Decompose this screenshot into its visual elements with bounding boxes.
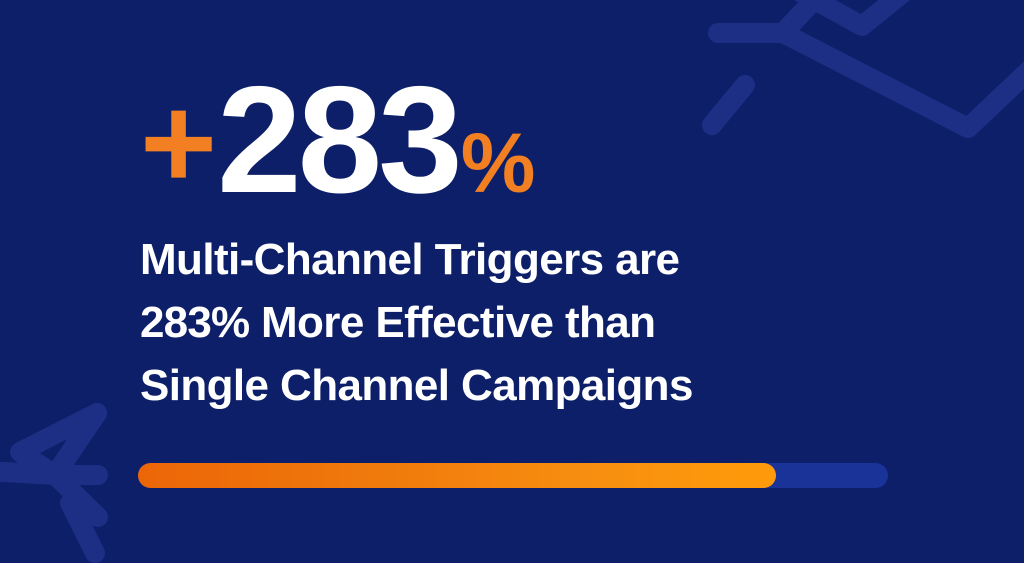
headline-value: 283 <box>217 64 459 216</box>
subhead-line-2: 283% More Effective than <box>140 291 880 354</box>
headline-stat: + 283 % <box>140 64 533 216</box>
progress-bar-fill <box>138 463 776 488</box>
stat-highlight-card: + 283 % Multi-Channel Triggers are 283% … <box>0 0 1024 563</box>
network-nodes-top-right-graphic <box>712 0 1024 128</box>
progress-bar <box>138 463 888 488</box>
subhead-line-1: Multi-Channel Triggers are <box>140 228 880 291</box>
subhead-line-2-rest: More Effective than <box>249 298 655 347</box>
headline-percent-sign: % <box>461 121 534 205</box>
network-nodes-bottom-left-graphic <box>0 413 98 553</box>
subhead-emphasis-stat: 283% <box>140 298 249 347</box>
subhead-text: Multi-Channel Triggers are 283% More Eff… <box>140 228 880 417</box>
headline-plus-sign: + <box>140 77 215 209</box>
subhead-line-3: Single Channel Campaigns <box>140 354 880 417</box>
